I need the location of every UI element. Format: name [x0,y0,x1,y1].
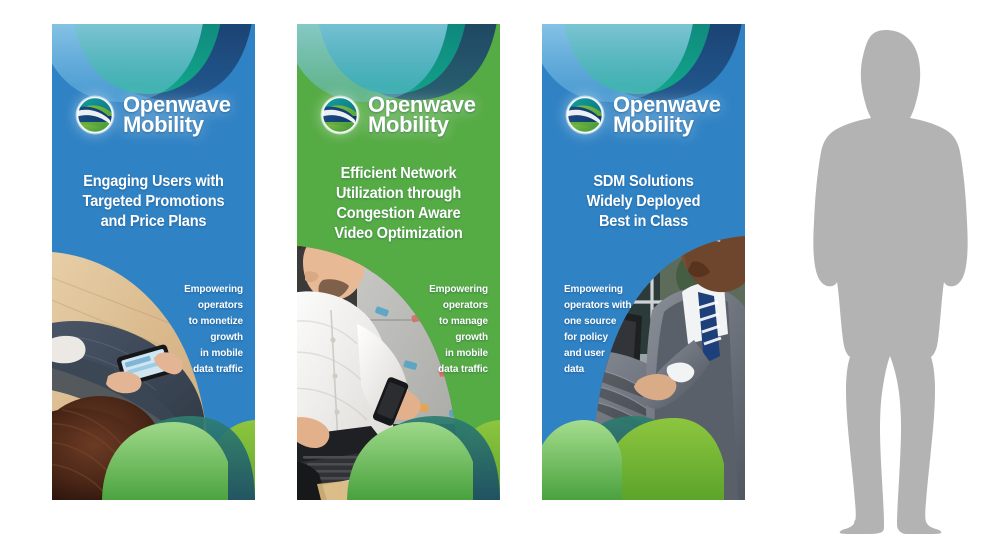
subcopy-line: Empowering [564,282,631,298]
subcopy-line: Empowering [184,282,243,298]
banner-1-logo[interactable]: Openwave Mobility [74,94,231,136]
banner-stand-2[interactable]: Openwave Mobility Efficient Network Util… [297,24,500,500]
openwave-globe-logo-icon [564,94,606,136]
banner-3-bottom-domes [542,410,745,500]
headline-line: Efficient Network [312,164,484,184]
headline-line: SDM Solutions [557,172,729,192]
subcopy-line: data traffic [184,362,243,378]
subcopy-line: in mobile [429,346,488,362]
banner-1-wordmark: Openwave Mobility [123,95,231,135]
subcopy-line: data traffic [429,362,488,378]
subcopy-line: growth [429,330,488,346]
headline-line: Utilization through [312,184,484,204]
banner-stand-3[interactable]: Openwave Mobility SDM Solutions Widely D… [542,24,745,500]
banner-2-logo[interactable]: Openwave Mobility [319,94,476,136]
banner-3-headline: SDM Solutions Widely Deployed Best in Cl… [557,172,729,232]
subcopy-line: Empowering [429,282,488,298]
subcopy-line: to monetize [184,314,243,330]
headline-line: Congestion Aware [312,204,484,224]
subcopy-line: and user [564,346,631,362]
banner-3-subcopy: Empowering operators with one source for… [564,282,631,378]
subcopy-line: to manage [429,314,488,330]
subcopy-line: for policy [564,330,631,346]
poster-canvas: Openwave Mobility Engaging Users with Ta… [0,0,1000,560]
headline-line: Engaging Users with [67,172,239,192]
subcopy-line: operators [429,298,488,314]
banner-3-wordmark: Openwave Mobility [613,95,721,135]
banner-1-headline: Engaging Users with Targeted Promotions … [67,172,239,232]
banner-stand-1[interactable]: Openwave Mobility Engaging Users with Ta… [52,24,255,500]
banner-2-bottom-domes [297,410,500,500]
openwave-globe-logo-icon [319,94,361,136]
banner-2-subcopy: Empowering operators to manage growth in… [429,282,488,378]
wordmark-line-2: Mobility [368,115,476,135]
wordmark-line-2: Mobility [613,115,721,135]
subcopy-line: operators [184,298,243,314]
banner-1-bottom-domes [52,410,255,500]
openwave-globe-logo-icon [74,94,116,136]
headline-line: Best in Class [557,212,729,232]
banner-1-subcopy: Empowering operators to monetize growth … [184,282,243,378]
headline-line: Widely Deployed [557,192,729,212]
headline-line: Targeted Promotions [67,192,239,212]
subcopy-line: in mobile [184,346,243,362]
subcopy-line: one source [564,314,631,330]
headline-line: and Price Plans [67,212,239,232]
subcopy-line: growth [184,330,243,346]
subcopy-line: data [564,362,631,378]
banner-2-headline: Efficient Network Utilization through Co… [312,164,484,245]
wordmark-line-2: Mobility [123,115,231,135]
headline-line: Video Optimization [312,224,484,244]
subcopy-line: operators with [564,298,631,314]
banner-3-logo[interactable]: Openwave Mobility [564,94,721,136]
human-silhouette [798,26,976,534]
banner-2-wordmark: Openwave Mobility [368,95,476,135]
